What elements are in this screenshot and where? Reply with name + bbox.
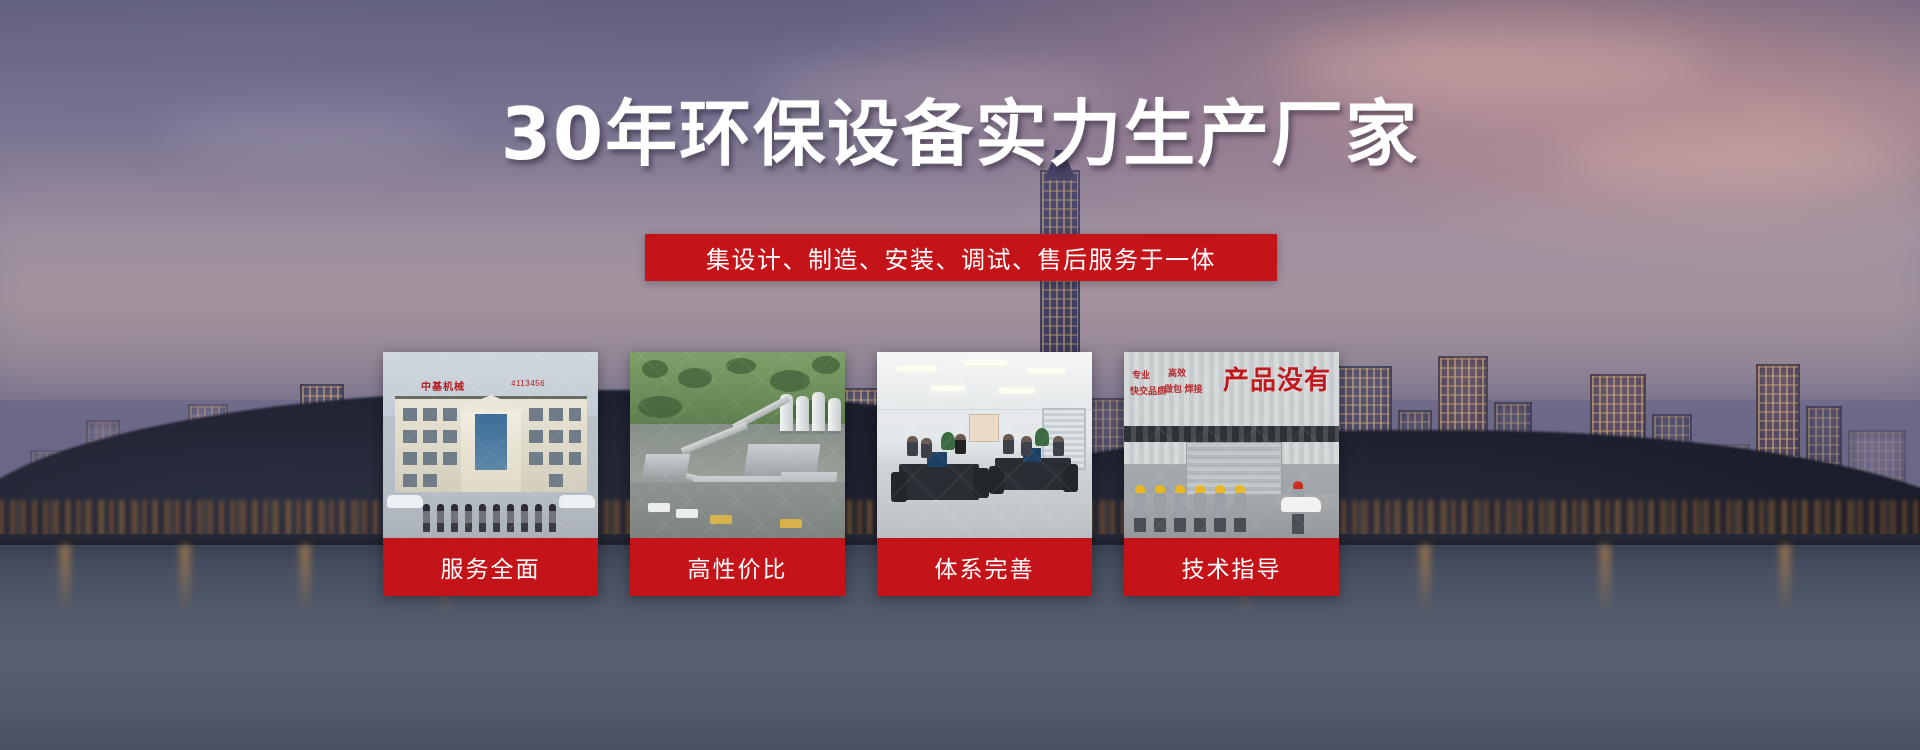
hero-banner: 30年环保设备实力生产厂家 集设计、制造、安装、调试、售后服务于一体 中基机械 … — [0, 0, 1920, 750]
factory-wall-subtext-4: 做包 焊接 — [1164, 384, 1203, 395]
factory-wall-subtext-1: 专业 — [1132, 370, 1150, 381]
office-building-photo: 中基机械 4113456 — [383, 352, 598, 538]
office-interior-photo — [877, 352, 1092, 538]
feature-card[interactable]: 体系完善 — [877, 352, 1092, 596]
page-title: 30年环保设备实力生产厂家 — [0, 98, 1920, 170]
subtitle-banner: 集设计、制造、安装、调试、售后服务于一体 — [645, 234, 1277, 281]
card-caption: 技术指导 — [1124, 538, 1339, 596]
factory-workers-photo: 产品没有 专业 快交品质 高效 做包 焊接 — [1124, 352, 1339, 538]
feature-card[interactable]: 高性价比 — [630, 352, 845, 596]
feature-card[interactable]: 产品没有 专业 快交品质 高效 做包 焊接 — [1124, 352, 1339, 596]
building-phone-text: 4113456 — [511, 379, 545, 388]
factory-wall-text: 产品没有 — [1223, 360, 1331, 397]
subtitle-text: 集设计、制造、安装、调试、售后服务于一体 — [706, 240, 1216, 275]
banner-content: 30年环保设备实力生产厂家 集设计、制造、安装、调试、售后服务于一体 中基机械 … — [0, 0, 1920, 750]
card-caption: 体系完善 — [877, 538, 1092, 596]
feature-card[interactable]: 中基机械 4113456 — [383, 352, 598, 596]
feature-card-list: 中基机械 4113456 — [383, 352, 1548, 596]
card-caption: 高性价比 — [630, 538, 845, 596]
factory-wall-subtext-2: 快交品质 — [1130, 386, 1166, 397]
building-logo-text: 中基机械 — [421, 378, 465, 393]
factory-wall-subtext-3: 高效 — [1168, 368, 1186, 379]
aerial-plant-photo — [630, 352, 845, 538]
card-caption: 服务全面 — [383, 538, 598, 596]
